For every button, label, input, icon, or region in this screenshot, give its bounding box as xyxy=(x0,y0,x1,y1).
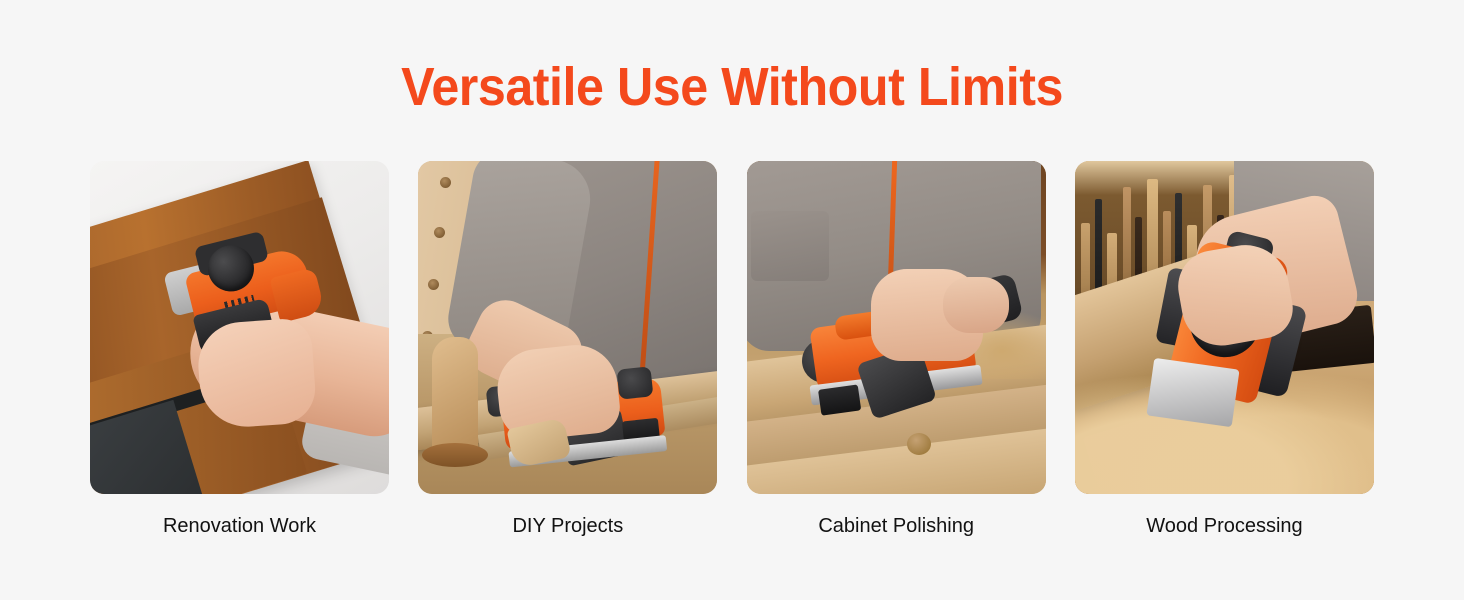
jacket-pocket xyxy=(751,211,829,281)
hand xyxy=(195,317,317,430)
image-renovation-work xyxy=(90,161,389,494)
card-caption: Cabinet Polishing xyxy=(818,512,974,540)
image-cabinet-polishing xyxy=(747,161,1046,494)
carved-wood-figurine xyxy=(432,337,478,455)
promotional-banner: Versatile Use Without Limits xyxy=(0,0,1464,600)
feature-card-wood-processing[interactable]: Wood Processing xyxy=(1075,161,1374,561)
image-wood-processing xyxy=(1075,161,1374,494)
card-caption: Wood Processing xyxy=(1146,512,1302,540)
feature-card-grid: Renovation Work xyxy=(90,161,1374,561)
card-caption: DIY Projects xyxy=(512,512,623,540)
planer-dust-port xyxy=(818,384,861,415)
feature-card-diy-projects[interactable]: DIY Projects xyxy=(418,161,717,561)
feature-card-renovation-work[interactable]: Renovation Work xyxy=(90,161,389,561)
image-diy-projects xyxy=(418,161,717,494)
planer-depth-knob xyxy=(617,366,654,399)
feature-card-cabinet-polishing[interactable]: Cabinet Polishing xyxy=(747,161,1046,561)
wooden-dowel-peg xyxy=(907,433,931,455)
hand-right xyxy=(943,277,1009,333)
card-caption: Renovation Work xyxy=(163,512,316,540)
planer-grip xyxy=(270,267,326,323)
planer-base-plate xyxy=(1146,358,1239,427)
page-title: Versatile Use Without Limits xyxy=(51,55,1413,119)
